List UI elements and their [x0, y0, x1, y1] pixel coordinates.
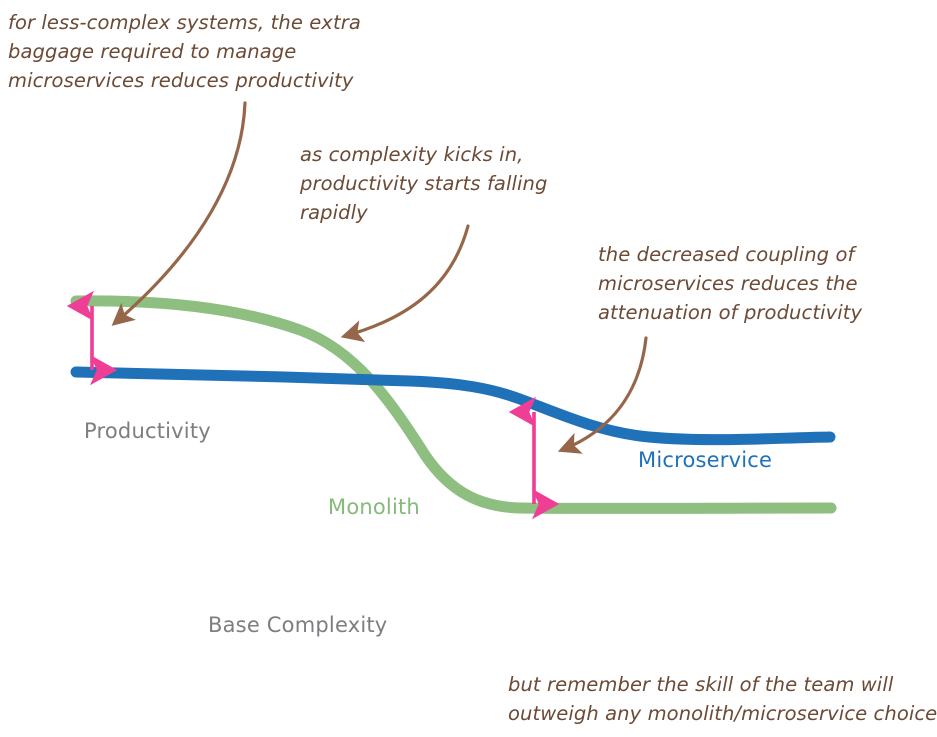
series-label-monolith: Monolith [328, 495, 420, 519]
series-label-microservice: Microservice [638, 448, 772, 472]
annotation-complexity-kicks-in: as complexity kicks in, productivity sta… [300, 140, 560, 227]
y-axis-label: Productivity [84, 419, 211, 443]
productivity-vs-complexity-chart [0, 0, 937, 737]
arrow-low-complexity-note [115, 103, 245, 323]
annotation-team-skill: but remember the skill of the team will … [508, 670, 937, 728]
x-axis-label: Base Complexity [208, 613, 387, 637]
arrow-complexity-kicks-in-note [345, 226, 468, 336]
annotation-low-complexity: for less-complex systems, the extra bagg… [8, 8, 368, 95]
annotation-decoupling: the decreased coupling of microservices … [598, 240, 898, 327]
monolith-curve [76, 301, 831, 509]
